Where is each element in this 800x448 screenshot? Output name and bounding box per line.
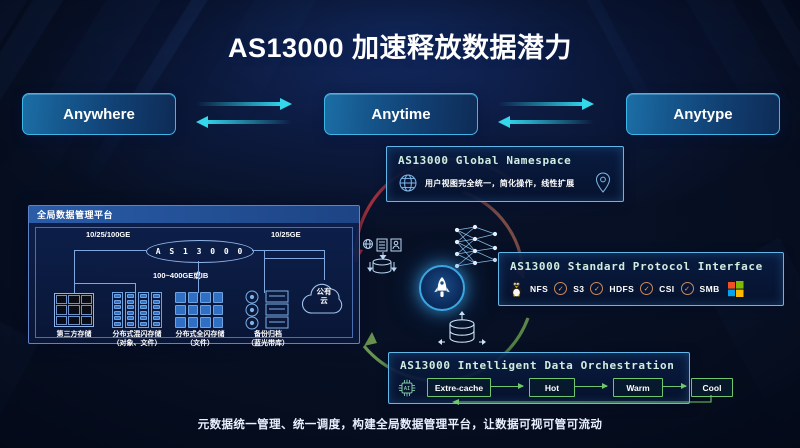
- tier-arrow: [662, 386, 686, 387]
- protocol-nfs: NFS: [530, 284, 548, 294]
- device-backup-archive: [244, 290, 292, 330]
- wire: [324, 250, 325, 258]
- wire: [264, 250, 265, 293]
- button-anywhere-label: Anywhere: [63, 106, 135, 123]
- tier-return-arrow: [419, 393, 719, 409]
- network-label-left: 10/25/100GE: [86, 230, 130, 239]
- ai-chip-icon: AI: [397, 378, 417, 398]
- database-cylinder-icon: [437, 310, 487, 358]
- button-anytype-label: Anytype: [673, 106, 732, 123]
- wire: [74, 283, 75, 293]
- global-namespace-panel: AS13000 Global Namespace 用户视图完全统一，简化操作，线…: [386, 146, 624, 202]
- network-label-right: 10/25GE: [271, 230, 301, 239]
- wire: [74, 283, 136, 284]
- protocol-hdfs: HDFS: [609, 284, 634, 294]
- arrow-right-icon: [196, 100, 292, 108]
- arrow-left-icon: [196, 118, 292, 126]
- tier-arrow: [490, 386, 523, 387]
- wire: [74, 250, 146, 251]
- svg-text:AI: AI: [404, 386, 410, 392]
- protocol-smb: SMB: [700, 284, 720, 294]
- arrow-right-icon: [498, 100, 594, 108]
- platform-panel-body: 10/25/100GE 100~400GE或IB 10/25GE A S 1 3…: [35, 227, 353, 338]
- footer-caption: 元数据统一管理、统一调度，构建全局数据管理平台，让数据可视可管可流动: [0, 416, 800, 432]
- wire: [252, 250, 324, 251]
- exchange-arrows-right: [498, 97, 594, 135]
- tier-arrow: [574, 386, 607, 387]
- arrow-left-icon: [498, 118, 594, 126]
- orchestration-panel-title: AS13000 Intelligent Data Orchestration: [400, 359, 674, 372]
- device-label-third-party: 第三方存储: [42, 331, 106, 340]
- platform-panel-header: 全局数据管理平台: [29, 206, 359, 223]
- device-label-all-flash: 分布式全闪存储 （文件）: [163, 331, 237, 349]
- wire: [324, 258, 325, 280]
- button-anywhere[interactable]: Anywhere: [22, 93, 176, 135]
- device-label-backup-archive: 备份归档 （蓝光带库）: [231, 331, 305, 349]
- check-circle-icon: ✓: [640, 282, 653, 295]
- protocol-csi: CSI: [659, 284, 674, 294]
- network-label-center: 100~400GE或IB: [153, 270, 208, 281]
- slide-canvas: AS13000 加速释放数据潜力 Anywhere Anytime Anytyp…: [0, 0, 800, 448]
- rocket-icon: [431, 276, 453, 300]
- protocol-list: NFS ✓ S3 ✓ HDFS ✓ CSI ✓ SMB: [509, 280, 744, 297]
- check-circle-icon: ✓: [681, 282, 694, 295]
- location-pin-icon: [593, 172, 613, 194]
- device-hybrid-flash-storage: [112, 292, 162, 328]
- globe-icon: [398, 173, 418, 193]
- exchange-arrows-left: [196, 97, 292, 135]
- device-all-flash-storage: [175, 292, 223, 328]
- as13000-core-node: A S 1 3 0 0 0: [146, 240, 254, 263]
- protocol-panel-title: AS13000 Standard Protocol Interface: [510, 260, 763, 273]
- namespace-panel-subtitle: 用户视图完全统一，简化操作，线性扩展: [425, 178, 574, 189]
- global-data-platform-panel: 全局数据管理平台 10/25/100GE 100~400GE或IB 10/25G…: [28, 205, 360, 344]
- windows-logo-icon: [728, 281, 744, 297]
- public-cloud-label: 公有 云: [298, 288, 350, 305]
- data-orchestration-panel: AS13000 Intelligent Data Orchestration A…: [388, 352, 690, 404]
- protocol-s3: S3: [573, 284, 584, 294]
- check-circle-icon: ✓: [590, 282, 603, 295]
- protocol-interface-panel: AS13000 Standard Protocol Interface NFS …: [498, 252, 784, 306]
- button-anytime[interactable]: Anytime: [324, 93, 478, 135]
- device-third-party-storage: [54, 293, 94, 327]
- namespace-panel-title: AS13000 Global Namespace: [398, 154, 571, 167]
- wire: [198, 261, 199, 293]
- central-hub[interactable]: [419, 265, 465, 311]
- linux-penguin-icon: [509, 280, 524, 297]
- wire: [264, 258, 324, 259]
- button-anytype[interactable]: Anytype: [626, 93, 780, 135]
- button-anytime-label: Anytime: [371, 106, 430, 123]
- data-sync-icon: [362, 238, 408, 280]
- wire: [74, 250, 75, 283]
- page-title: AS13000 加速释放数据潜力: [0, 26, 800, 65]
- check-circle-icon: ✓: [554, 282, 567, 295]
- neural-network-icon: [451, 222, 505, 270]
